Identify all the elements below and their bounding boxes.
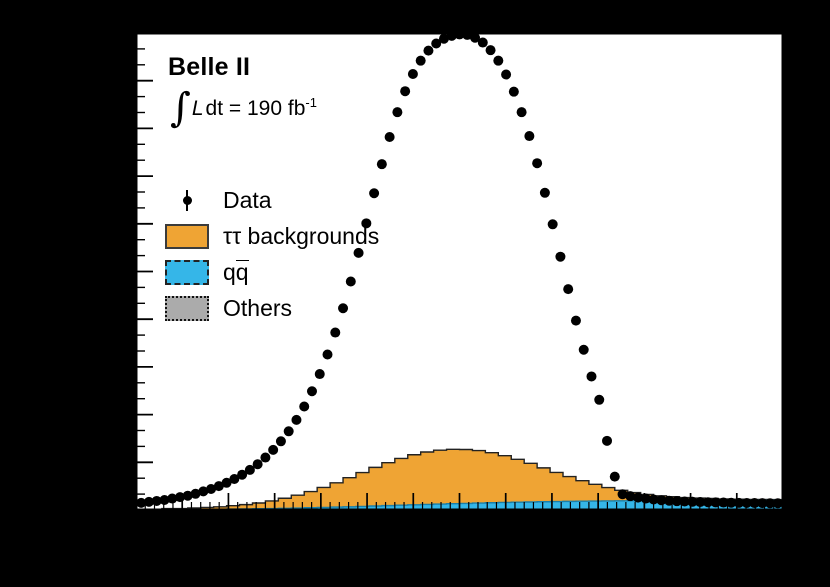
luminosity-unit: fb (288, 97, 306, 120)
experiment-label: Belle II (168, 53, 250, 82)
legend: Data ττ backgrounds qq Others (165, 182, 379, 326)
figure-canvas: Belle II ∫Ldt = 190 fb-1 Data ττ backgro… (0, 0, 830, 587)
legend-label-qqbar: qq (223, 259, 249, 286)
legend-label-tautau: ττ backgrounds (223, 223, 379, 250)
data-marker-icon (165, 188, 209, 213)
qqbar-swatch-icon (165, 260, 209, 285)
legend-label-others: Others (223, 295, 292, 322)
others-swatch-icon (165, 296, 209, 321)
luminosity-equals: = (229, 97, 241, 120)
legend-label-data: Data (223, 187, 272, 214)
luminosity-exponent: -1 (305, 95, 317, 110)
legend-item-others: Others (165, 290, 379, 326)
luminosity-label: ∫Ldt = 190 fb-1 (170, 95, 317, 121)
luminosity-value: 190 (247, 97, 282, 120)
tautau-swatch-icon (165, 224, 209, 249)
legend-item-data: Data (165, 182, 379, 218)
luminosity-differential: dt (206, 97, 224, 120)
integral-icon: ∫ (170, 85, 192, 131)
luminosity-variable: L (192, 97, 206, 120)
legend-item-tautau: ττ backgrounds (165, 218, 379, 254)
legend-item-qqbar: qq (165, 254, 379, 290)
